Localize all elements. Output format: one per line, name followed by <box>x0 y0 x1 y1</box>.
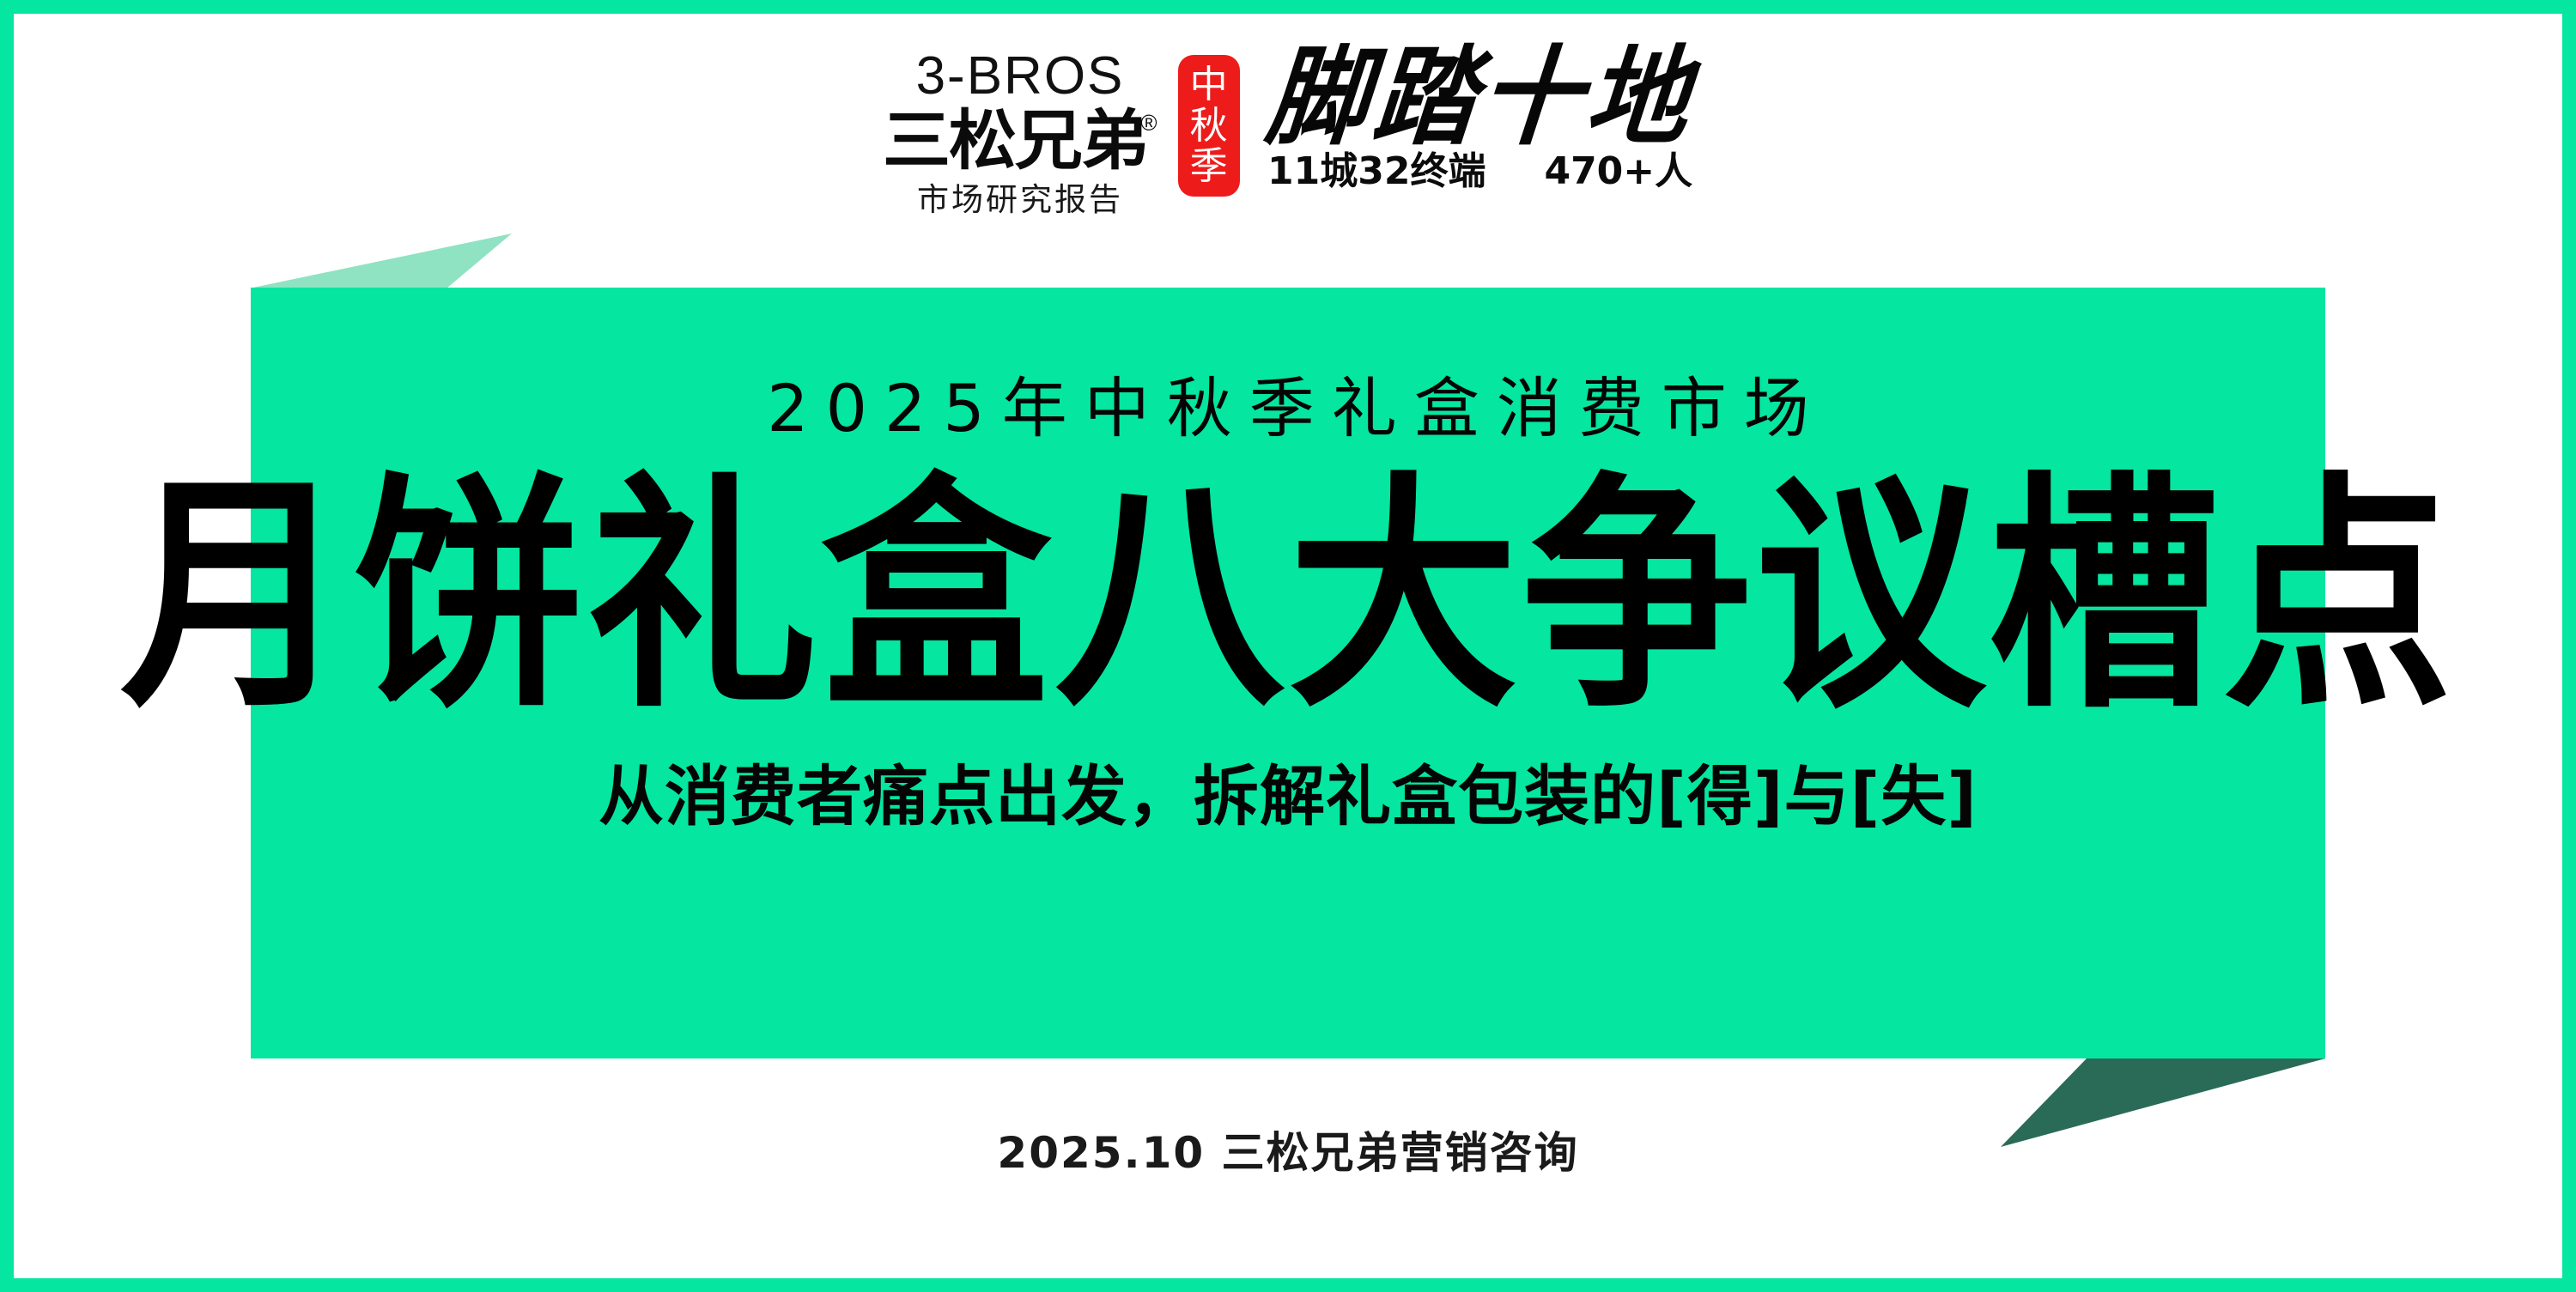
seal-char-1: 中 <box>1190 64 1228 106</box>
campaign-calligraphy-block: 脚踏十地 11城32终端 470+人 <box>1267 45 1693 191</box>
brand-chinese-name: 三松兄弟 <box>883 108 1147 173</box>
seal-char-2: 秋 <box>1190 106 1228 147</box>
brand-chinese-row: 三松兄弟 ® <box>883 108 1157 173</box>
poster-header: 3-BROS 三松兄弟 ® 市场研究报告 中 秋 季 脚踏十地 11城32终端 … <box>0 45 2576 251</box>
brand-english-name: 3-BROS <box>916 50 1125 103</box>
poster-canvas: 3-BROS 三松兄弟 ® 市场研究报告 中 秋 季 脚踏十地 11城32终端 … <box>0 0 2576 1292</box>
header-lockup: 3-BROS 三松兄弟 ® 市场研究报告 中 秋 季 脚踏十地 11城32终端 … <box>883 45 1692 215</box>
brand-subtitle: 市场研究报告 <box>917 184 1123 215</box>
hero-headline: 月饼礼盒八大争议槽点 <box>120 465 2456 729</box>
hero-green-panel: 2025年中秋季礼盒消费市场 月饼礼盒八大争议槽点 从消费者痛点出发，拆解礼盒包… <box>251 288 2325 1058</box>
brand-logo: 3-BROS 三松兄弟 ® 市场研究报告 <box>883 45 1157 215</box>
mid-autumn-season-seal-badge: 中 秋 季 <box>1178 55 1240 197</box>
footer-credit: 2025.10 三松兄弟营销咨询 <box>997 1131 1578 1174</box>
poster-footer: 2025.10 三松兄弟营销咨询 <box>0 1131 2576 1174</box>
hero-eyebrow: 2025年中秋季礼盒消费市场 <box>750 376 1826 441</box>
campaign-calligraphy-title: 脚踏十地 <box>1262 43 1698 150</box>
seal-char-3: 季 <box>1190 146 1228 187</box>
hero-subheadline: 从消费者痛点出发，拆解礼盒包装的[得]与[失] <box>598 764 1978 829</box>
